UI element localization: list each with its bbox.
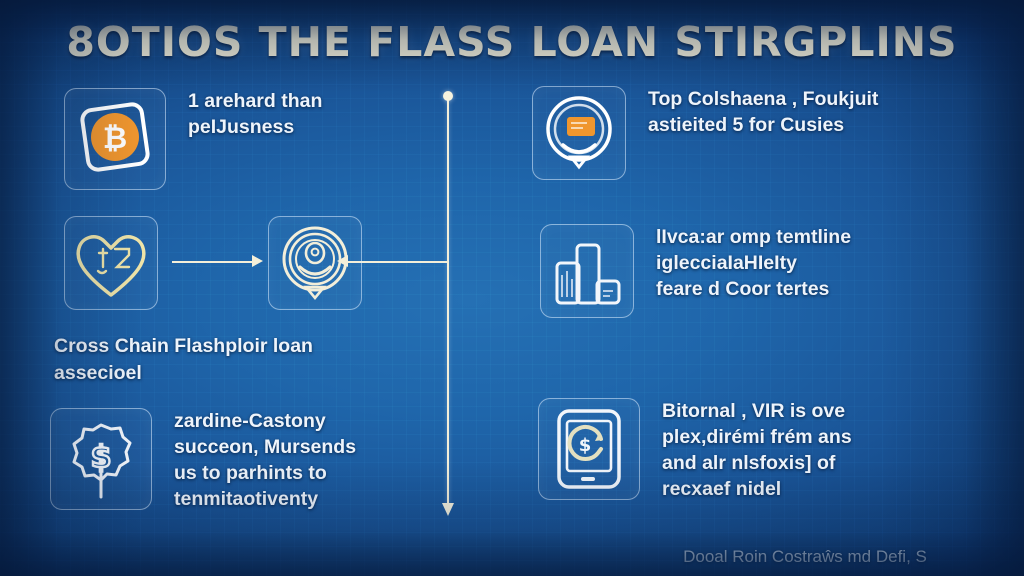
caption-line: peIJusness xyxy=(188,114,322,140)
caption-line: iglecciaIaHIeIty xyxy=(656,250,851,276)
bar-chart-icon xyxy=(541,225,633,317)
caption-line: tenmitaotiventy xyxy=(174,486,356,512)
block-top-right[interactable]: Top Colshaena , Foukjuit astieited 5 for… xyxy=(532,86,878,180)
infographic-canvas: 8OTIOS THE FLASS LOAN STIRGPLINS ₿ 1 are… xyxy=(0,0,1024,576)
block-bottom-right[interactable]: $ Bitornal , VIR is ove plex,dirémi frém… xyxy=(538,398,852,502)
caption-line: Cross Chain Flashploir loan xyxy=(54,333,414,360)
block-mid-right[interactable]: lIvca:ar omp temtline iglecciaIaHIeIty f… xyxy=(540,224,851,318)
vertical-connector-line xyxy=(447,96,449,508)
secure-tablet-icon: $ xyxy=(539,399,639,499)
money-tree-icon: $ xyxy=(51,409,151,509)
caption-line: recxaef nidel xyxy=(662,476,852,502)
caption-line: lIvca:ar omp temtline xyxy=(656,224,851,250)
block-cross-chain-caption: Cross Chain Flashploir loan assecioel xyxy=(54,333,414,387)
caption-line: plex,dirémi frém ans xyxy=(662,424,852,450)
block-badge-node[interactable] xyxy=(268,216,362,310)
caption-line: and alr nlsfoxis] of xyxy=(662,450,852,476)
bitcoin-coin-icon: ₿ xyxy=(65,89,165,189)
caption-line: feare d Coor tertes xyxy=(656,276,851,302)
heart-icon-box xyxy=(64,216,158,310)
heart-icon xyxy=(65,217,157,309)
block-bottom-left[interactable]: $ zardine-Castony succeon, Mursends us t… xyxy=(50,408,356,512)
location-badge-icon xyxy=(269,217,361,309)
money-tree-icon-box: $ xyxy=(50,408,152,510)
svg-text:₿: ₿ xyxy=(103,121,127,156)
secure-tablet-icon-box: $ xyxy=(538,398,640,500)
block-bottom-left-caption: zardine-Castony succeon, Mursends us to … xyxy=(174,408,356,512)
svg-text:$: $ xyxy=(579,435,592,456)
connector-end-arrowhead xyxy=(442,503,454,516)
chat-bubble-circle-icon xyxy=(533,87,625,179)
block-bottom-right-caption: Bitornal , VIR is ove plex,dirémi frém a… xyxy=(662,398,852,502)
caption-line: succeon, Mursends xyxy=(174,434,356,460)
arrow-heart-to-badge-head-icon xyxy=(252,255,263,267)
bitcoin-coin-icon-box: ₿ xyxy=(64,88,166,190)
chat-bubble-circle-icon-box xyxy=(532,86,626,180)
connector-start-dot xyxy=(443,91,453,101)
caption-line: 1 arehard than xyxy=(188,88,322,114)
caption-line: assecioel xyxy=(54,360,414,387)
arrow-heart-to-badge-shaft xyxy=(172,261,256,263)
svg-text:$: $ xyxy=(91,440,112,475)
caption-line: us to parhints to xyxy=(174,460,356,486)
block-top-left-caption: 1 arehard than peIJusness xyxy=(188,88,322,140)
block-heart-node[interactable] xyxy=(64,216,158,310)
caption-line: Bitornal , VIR is ove xyxy=(662,398,852,424)
block-top-left[interactable]: ₿ 1 arehard than peIJusness xyxy=(64,88,322,190)
bar-chart-icon-box xyxy=(540,224,634,318)
caption-line: zardine-Castony xyxy=(174,408,356,434)
caption-line: astieited 5 for Cusies xyxy=(648,112,878,138)
footer-caption: Dooal Roin Costraŵs md Defi, S xyxy=(600,547,1010,567)
block-mid-right-caption: lIvca:ar omp temtline iglecciaIaHIeIty f… xyxy=(656,224,851,302)
page-title: 8OTIOS THE FLASS LOAN STIRGPLINS xyxy=(0,18,1024,66)
location-badge-icon-box xyxy=(268,216,362,310)
block-top-right-caption: Top Colshaena , Foukjuit astieited 5 for… xyxy=(648,86,878,138)
caption-line: Top Colshaena , Foukjuit xyxy=(648,86,878,112)
